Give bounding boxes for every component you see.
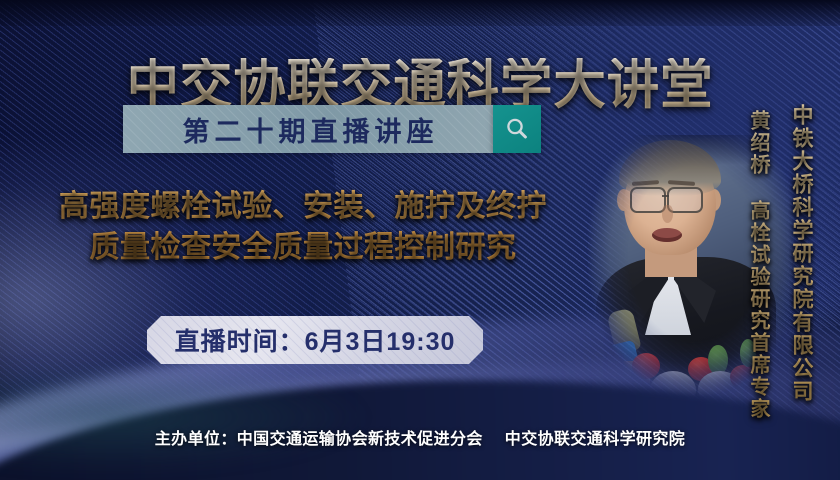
episode-label: 第二十期直播讲座: [178, 110, 439, 149]
search-button[interactable]: [493, 105, 541, 153]
background-teal-glow: [0, 362, 370, 472]
footer-organizer-text: 主办单位：中国交通运输协会新技术促进分会: [155, 431, 483, 448]
footer-organizers: 主办单位：中国交通运输协会新技术促进分会中交协联交通科学研究院: [0, 425, 840, 449]
broadcast-time-badge: 直播时间：6月3日19:30: [147, 316, 483, 364]
live-lecture-poster: 中交协联交通科学大讲堂 第二十期直播讲座 高强度螺栓试验、安装、施拧及终拧 质量…: [0, 0, 840, 480]
broadcast-time-label: 直播时间：6月3日19:30: [175, 322, 456, 358]
search-icon: [504, 116, 530, 142]
lecture-topic: 高强度螺栓试验、安装、施拧及终拧 质量检查安全质量过程控制研究: [8, 186, 598, 268]
portrait-glasses-left-lens: [630, 187, 666, 213]
lecture-topic-line-2: 质量检查安全质量过程控制研究: [8, 227, 598, 268]
episode-banner: 第二十期直播讲座: [123, 105, 493, 153]
background-top-fade: [0, 0, 840, 26]
footer-institute-text: 中交协联交通科学研究院: [505, 431, 685, 448]
lecture-topic-line-1: 高强度螺栓试验、安装、施拧及终拧: [8, 186, 598, 227]
speaker-name-title: 黄绍桥 高栓试验研究首席专家: [744, 110, 773, 420]
portrait-nose: [662, 205, 673, 223]
portrait-mouth: [652, 228, 682, 242]
speaker-company: 中铁大桥科学研究院有限公司: [786, 104, 816, 403]
portrait-glasses-bridge: [662, 195, 669, 197]
